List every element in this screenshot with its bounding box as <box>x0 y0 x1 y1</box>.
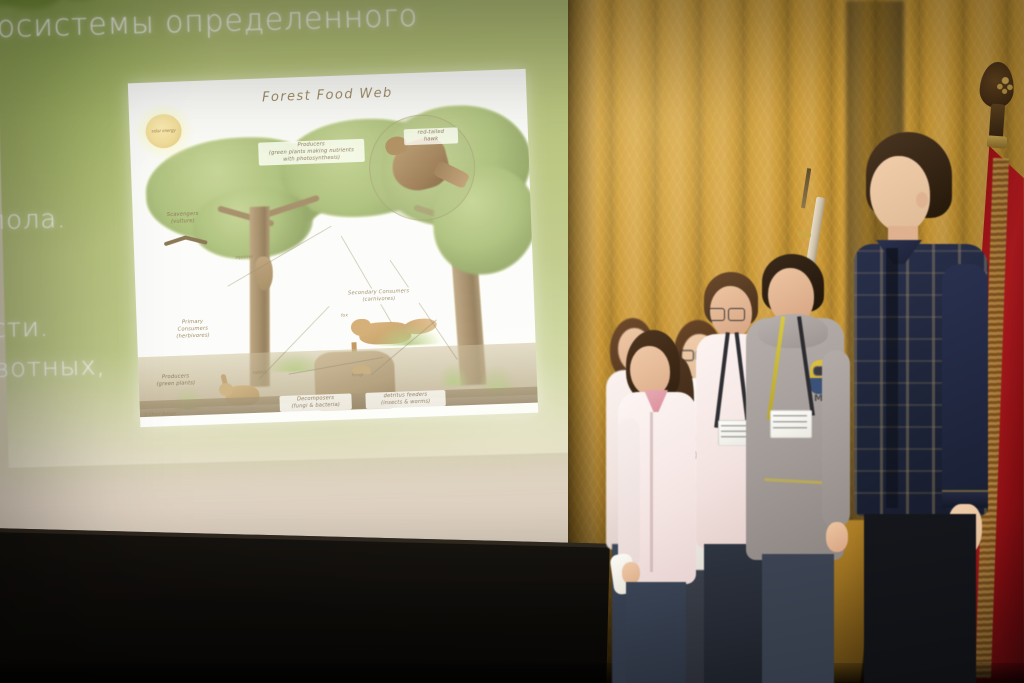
label-primary-consumers: Primary Consumers (herbivores) <box>161 318 226 341</box>
label-red-tailed-hawk: red-tailed hawk <box>404 127 459 145</box>
jeans <box>626 582 686 683</box>
stage-apron <box>0 528 610 683</box>
banner-gold-ring <box>797 231 812 238</box>
slide-body-line-1: упола. <box>0 204 66 237</box>
trousers <box>864 514 976 683</box>
food-web-credit: ©Sheri Amsel <box>144 411 194 419</box>
slide-body-line-4: ивотных, <box>0 351 106 384</box>
student-teen-tall <box>856 132 994 683</box>
label-decomposers: Decomposers (fungi & bacteria) <box>279 393 352 412</box>
label-producers-canopy: Producers (green plants making nutrients… <box>258 139 365 166</box>
label-detritus-feeders: detritus feeders (insects & worms) <box>365 390 446 409</box>
label-scavengers: Scavengers (vulture) <box>155 210 211 226</box>
photo-canvas: экосистемы определенного упола. ости. ив… <box>0 0 1024 683</box>
jeans <box>762 554 834 683</box>
food-web-title: Forest Food Web <box>262 86 393 106</box>
hand <box>826 522 848 552</box>
slide-body-line-3: ости. <box>0 313 49 345</box>
name-badge-text <box>773 415 807 433</box>
banner-emblem-icon <box>995 74 1014 95</box>
shirt-placket <box>886 248 898 508</box>
solar-energy-label: solar energy <box>145 113 182 148</box>
label-fungi: fungi <box>345 373 371 380</box>
label-fox: fox <box>332 313 356 320</box>
arm <box>942 264 988 514</box>
shirt-placket <box>650 412 653 572</box>
hood <box>758 314 828 348</box>
student-boy-hoodie: MOVE <box>752 254 852 683</box>
banner-finial <box>978 61 1015 109</box>
face <box>630 346 670 396</box>
arm <box>822 350 850 528</box>
ear <box>916 192 928 208</box>
banner-pole-tip <box>801 168 811 208</box>
label-rabbit: rabbit <box>244 370 274 377</box>
forest-food-web-diagram: Forest Food Web solar energy <box>128 69 538 427</box>
slide-heading: экосистемы определенного <box>0 0 418 46</box>
hand <box>622 562 640 584</box>
name-badge-text <box>721 425 749 441</box>
label-producers-ground: Producers (green plants) <box>147 373 205 389</box>
label-secondary-consumers: Secondary Consumers (carnivores) <box>326 286 433 306</box>
sun-icon: solar energy <box>145 113 182 148</box>
glasses-icon <box>708 308 746 319</box>
arm <box>618 418 640 568</box>
food-web-link <box>341 236 392 323</box>
grass-tuft <box>438 363 469 386</box>
vulture-icon <box>163 231 208 253</box>
student-girl-front <box>616 330 702 683</box>
